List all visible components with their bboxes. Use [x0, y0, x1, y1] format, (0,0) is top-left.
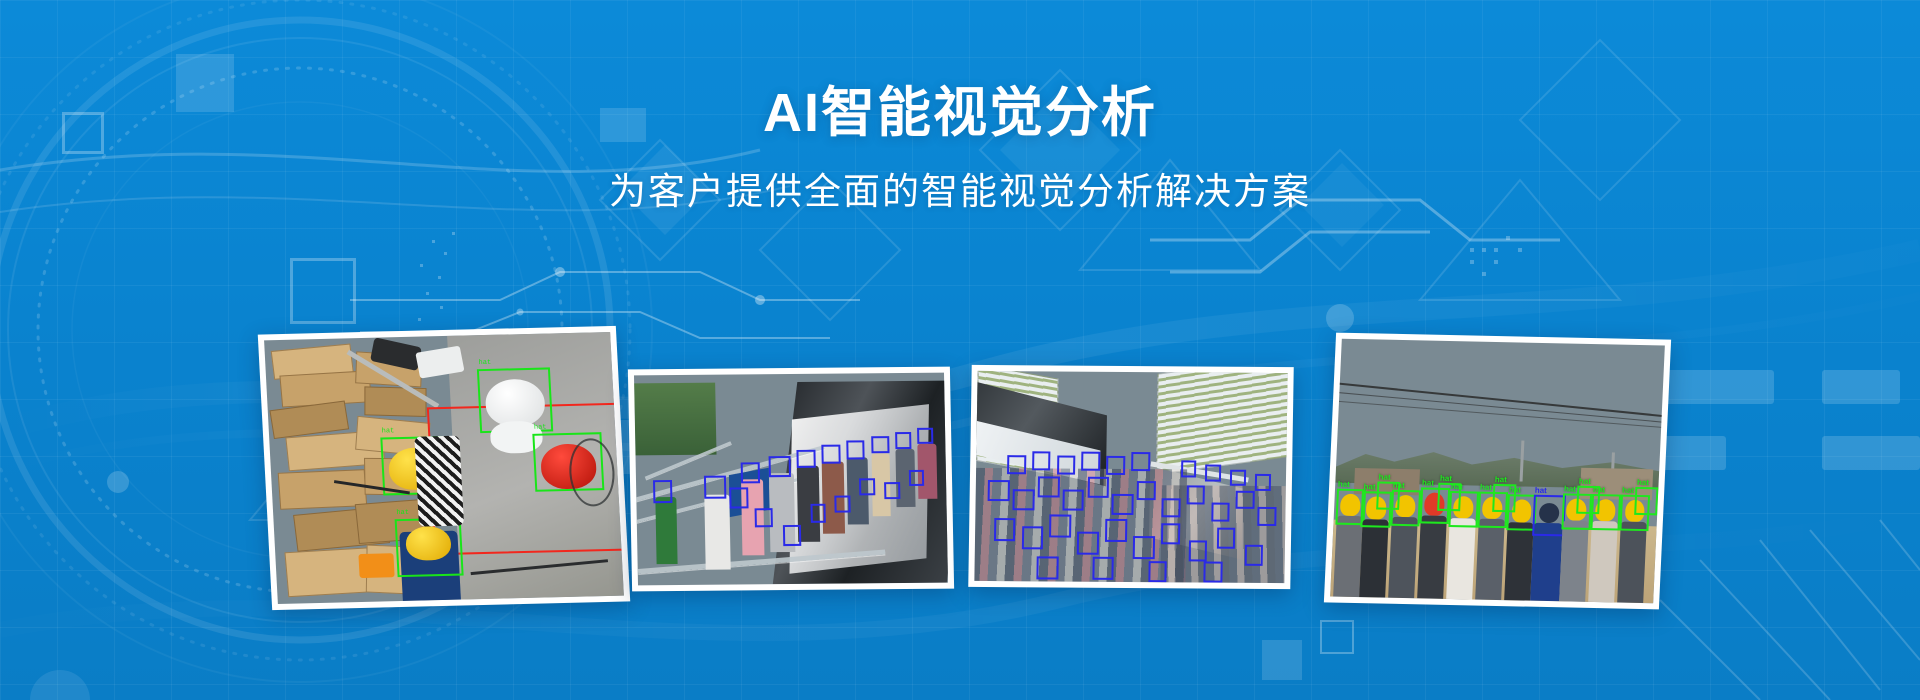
detection-label: hat: [1363, 483, 1375, 491]
person: [655, 497, 678, 564]
headline-block: AI智能视觉分析 为客户提供全面的智能视觉分析解决方案: [0, 82, 1920, 216]
louver-wall-right: [1156, 371, 1288, 474]
head-box: [1106, 456, 1125, 475]
person: [704, 494, 730, 570]
head-box: [1036, 556, 1058, 579]
head-box: [1217, 528, 1236, 549]
warehouse-scene: hat hat hat hat: [264, 332, 624, 604]
face-box: [810, 504, 826, 523]
hat-detection-box: hat: [1576, 486, 1600, 515]
detection-label: hat: [1622, 486, 1634, 494]
detection-label: hat: [1535, 487, 1547, 495]
page-title: AI智能视觉分析: [0, 82, 1920, 146]
head-box: [1211, 503, 1230, 522]
detection-label: hat: [1338, 480, 1350, 488]
face-box: [729, 488, 748, 509]
face-box: [769, 456, 791, 477]
ai-vision-banner: AI智能视觉分析 为客户提供全面的智能视觉分析解决方案: [0, 0, 1920, 700]
head-box: [1186, 486, 1205, 505]
face-box: [835, 495, 851, 512]
hat-detection-box: hat: [1376, 481, 1400, 510]
head-box: [1105, 519, 1127, 542]
walkway-scene: [634, 373, 948, 586]
detection-label: hat: [1480, 483, 1492, 491]
gallery-photo-station[interactable]: [968, 365, 1293, 589]
head-box: [1038, 476, 1060, 497]
gallery-photo-construction[interactable]: hat hat hat: [1324, 333, 1671, 610]
detection-label: hat: [478, 360, 491, 367]
page-subtitle: 为客户提供全面的智能视觉分析解决方案: [0, 168, 1920, 216]
carton: [278, 469, 367, 510]
detection-label: hat: [1422, 479, 1434, 487]
face-box: [821, 445, 840, 464]
head-box: [1077, 531, 1099, 554]
tool: [358, 554, 394, 579]
face-box: [783, 525, 802, 546]
head-box: [1021, 527, 1043, 550]
head-box: [1137, 481, 1156, 500]
head-box: [1204, 562, 1223, 583]
patterned-clothing: [415, 436, 465, 527]
head-box: [988, 480, 1010, 501]
detection-label: hat: [396, 510, 409, 517]
head-box: [1007, 455, 1026, 474]
head-box: [1081, 451, 1100, 470]
head-box: [1257, 507, 1276, 526]
power-wire: [1330, 400, 1665, 429]
face-box: [846, 441, 865, 460]
head-box: [1161, 498, 1180, 517]
head-box: [1062, 489, 1084, 510]
detection-label: hat: [1440, 475, 1452, 483]
head-box: [1148, 561, 1167, 582]
head-box: [1205, 465, 1221, 482]
head-box: [1131, 452, 1150, 471]
gallery-photo-warehouse[interactable]: hat hat hat hat: [258, 326, 630, 610]
head-box: [1236, 490, 1255, 509]
head-box: [1255, 474, 1271, 491]
detection-label: hat: [382, 429, 395, 436]
hat-detection-box: hat: [1437, 483, 1461, 512]
head-box: [1092, 557, 1114, 580]
hat-detection-box: hat: [1635, 487, 1659, 516]
head-box: [1032, 451, 1051, 470]
foliage: [634, 383, 716, 455]
hat-detection-box: hat: [1492, 484, 1516, 513]
detection-label: hat: [1378, 473, 1390, 481]
detection-box-helmet-yellow-2: hat: [395, 518, 464, 578]
head-box: [1230, 469, 1246, 486]
detection-label: hat: [534, 425, 547, 432]
construction-scene: hat hat hat: [1330, 339, 1665, 604]
decor-square-outline-1: [290, 258, 356, 324]
head-box: [1181, 461, 1197, 478]
head-box: [1013, 489, 1035, 510]
station-scene: [974, 371, 1287, 583]
head-box: [1189, 540, 1208, 561]
face-box: [871, 436, 890, 453]
face-box: [917, 427, 933, 444]
face-box: [653, 480, 672, 503]
detection-label: hat: [1495, 476, 1507, 484]
head-box: [1161, 523, 1180, 544]
detection-label: hat: [1637, 479, 1649, 487]
detection-label: hat: [1564, 485, 1576, 493]
face-box: [909, 469, 925, 486]
face-box: [741, 462, 760, 483]
head-box: [1112, 494, 1134, 515]
face-box: [754, 509, 773, 528]
face-box: [859, 478, 875, 495]
face-box: [896, 432, 912, 449]
face-box: [884, 482, 900, 499]
detection-label: hat: [1579, 478, 1591, 486]
head-box: [994, 518, 1016, 541]
head-box: [1087, 477, 1109, 498]
head-box: [1057, 455, 1076, 474]
gallery-photo-walkway[interactable]: [628, 367, 954, 592]
head-box: [1244, 545, 1263, 566]
head-box: [1133, 536, 1155, 559]
photo-gallery: hat hat hat hat: [0, 318, 1920, 648]
face-box: [704, 475, 726, 498]
power-wire: [1330, 391, 1665, 424]
face-box: [797, 449, 816, 468]
head-box: [1049, 514, 1071, 537]
